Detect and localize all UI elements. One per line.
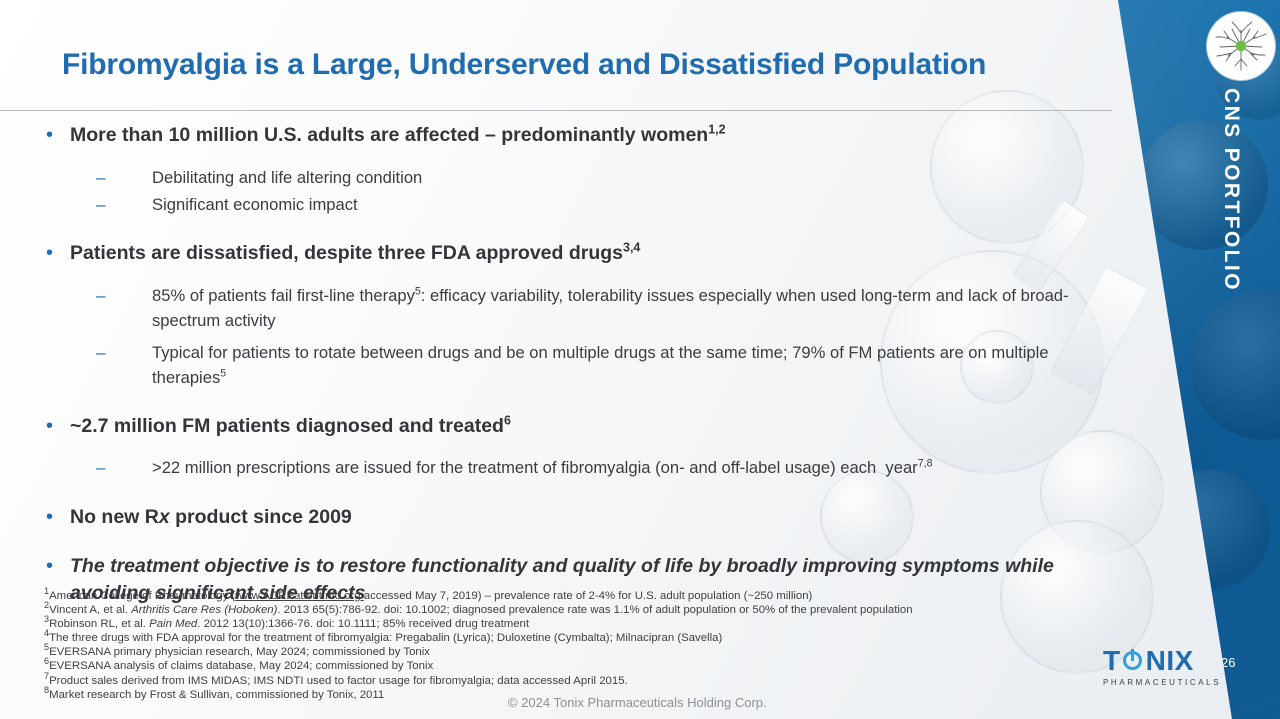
- bullet-text: Patients are dissatisfied, despite three…: [70, 240, 1117, 267]
- title-divider: [0, 110, 1112, 111]
- bullet-item: •No new Rx product since 2009: [42, 504, 1117, 531]
- bullet-text: Typical for patients to rotate between d…: [152, 340, 1117, 390]
- footnote-item: 4The three drugs with FDA approval for t…: [44, 631, 1004, 645]
- sub-bullet-dash-icon: –: [42, 192, 152, 217]
- bullet-spacer: [42, 151, 1117, 165]
- panel-bubble: [1150, 470, 1270, 590]
- tonix-logo-wordmark: T NIX: [1103, 647, 1211, 675]
- slide-canvas: CNS PORTFOLIO Fibromyalgia is a Large, U…: [0, 0, 1280, 719]
- bullet-marker-icon: •: [42, 240, 70, 266]
- footnote-list: 1American College of Rheumatology (www.A…: [44, 589, 1004, 702]
- bullet-marker-icon: •: [42, 553, 70, 579]
- bullet-spacer: [42, 391, 1117, 413]
- bullet-spacer: [42, 442, 1117, 455]
- footnote-item: 5EVERSANA primary physician research, Ma…: [44, 645, 1004, 659]
- bullet-item: •Patients are dissatisfied, despite thre…: [42, 240, 1117, 267]
- sub-bullet-item: –Significant economic impact: [42, 192, 1117, 217]
- tonix-logo-t: T: [1103, 647, 1121, 675]
- tonix-power-o-icon: [1122, 650, 1145, 673]
- neuron-cell-body: [1236, 41, 1246, 51]
- bullet-spacer: [42, 218, 1117, 240]
- bullet-text: >22 million prescriptions are issued for…: [152, 455, 1117, 480]
- tonix-logo: T NIX PHARMACEUTICALS: [1103, 647, 1211, 687]
- footnote-item: 2Vincent A, et al. Arthritis Care Res (H…: [44, 603, 1004, 617]
- footnote-item: 6EVERSANA analysis of claims database, M…: [44, 659, 1004, 673]
- neuron-badge: [1207, 12, 1275, 80]
- neuron-icon: [1212, 17, 1270, 75]
- bullet-item: •More than 10 million U.S. adults are af…: [42, 122, 1117, 149]
- footnote-item: 7Product sales derived from IMS MIDAS; I…: [44, 674, 1004, 688]
- bullet-text: 85% of patients fail first-line therapy5…: [152, 283, 1117, 333]
- footnote-marker: 4: [44, 628, 49, 638]
- bullet-text: Debilitating and life altering condition: [152, 165, 1117, 190]
- sidebar-portfolio-label: CNS PORTFOLIO: [1219, 88, 1243, 292]
- panel-bubble: [1190, 290, 1280, 440]
- tonix-logo-tagline: PHARMACEUTICALS: [1103, 678, 1211, 687]
- sub-bullet-dash-icon: –: [42, 455, 152, 480]
- sub-bullet-item: –Debilitating and life altering conditio…: [42, 165, 1117, 190]
- footnote-marker: 5: [44, 643, 49, 653]
- sub-bullet-dash-icon: –: [42, 283, 152, 308]
- footnote-marker: 6: [44, 657, 49, 667]
- footnote-marker: 8: [44, 685, 49, 695]
- sub-bullet-dash-icon: –: [42, 165, 152, 190]
- bullet-spacer: [42, 533, 1117, 553]
- tonix-logo-nix: NIX: [1146, 647, 1194, 675]
- sub-bullet-item: –Typical for patients to rotate between …: [42, 340, 1117, 390]
- footnote-marker: 3: [44, 614, 49, 624]
- footnote-item: 3Robinson RL, et al. Pain Med. 2012 13(1…: [44, 617, 1004, 631]
- bullet-item: •~2.7 million FM patients diagnosed and …: [42, 413, 1117, 440]
- footnote-marker: 7: [44, 671, 49, 681]
- sub-bullet-item: –>22 million prescriptions are issued fo…: [42, 455, 1117, 480]
- bullet-text: More than 10 million U.S. adults are aff…: [70, 122, 1117, 149]
- bullet-text: ~2.7 million FM patients diagnosed and t…: [70, 413, 1117, 440]
- bullet-list: •More than 10 million U.S. adults are af…: [42, 122, 1117, 609]
- footnote-item: 1American College of Rheumatology (www.A…: [44, 589, 1004, 603]
- bullet-marker-icon: •: [42, 504, 70, 530]
- footnote-marker: 1: [44, 586, 49, 596]
- panel-bubble: [1138, 120, 1268, 250]
- page-title: Fibromyalgia is a Large, Underserved and…: [62, 48, 986, 82]
- sub-bullet-dash-icon: –: [42, 340, 152, 365]
- bullet-marker-icon: •: [42, 122, 70, 148]
- copyright-text: © 2024 Tonix Pharmaceuticals Holding Cor…: [508, 695, 767, 710]
- bullet-spacer: [42, 269, 1117, 283]
- bullet-text: Significant economic impact: [152, 192, 1117, 217]
- footnote-marker: 2: [44, 600, 49, 610]
- page-number: 26: [1221, 655, 1235, 670]
- bullet-spacer: [42, 481, 1117, 504]
- bullet-marker-icon: •: [42, 413, 70, 439]
- bullet-text: No new Rx product since 2009: [70, 504, 1117, 531]
- sub-bullet-item: –85% of patients fail first-line therapy…: [42, 283, 1117, 333]
